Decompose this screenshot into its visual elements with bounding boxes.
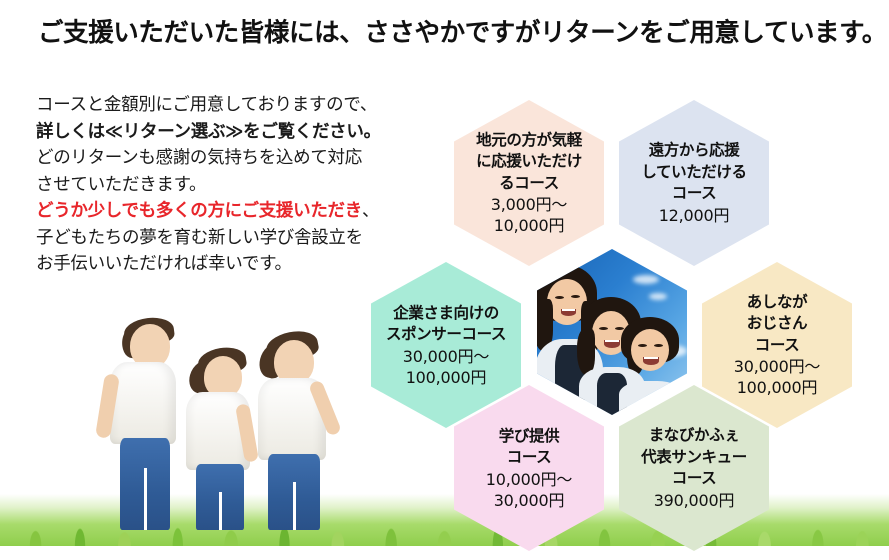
hex-amount-line: 10,000円～ bbox=[486, 469, 572, 490]
hex-title-line: 地元の方が気軽 bbox=[476, 130, 582, 152]
cloud-shape bbox=[633, 275, 659, 284]
reward-honeycomb: 地元の方が気軽 に応援いただけ るコース 3,000円～ 10,000円 遠方か… bbox=[0, 0, 889, 560]
hex-amount-line: 100,000円 bbox=[734, 377, 820, 398]
hex-amount-corporate-sponsor: 30,000円～ 100,000円 bbox=[403, 346, 489, 388]
child-mouth bbox=[561, 309, 576, 316]
hex-title-line: 代表サンキュー bbox=[641, 447, 747, 469]
hex-title-line: 企業さま向けの bbox=[386, 303, 506, 325]
hex-title-learning-provision: 学び提供 コース bbox=[499, 426, 559, 469]
hex-title-line: コース bbox=[641, 183, 746, 205]
hex-amount-line: 100,000円 bbox=[403, 367, 489, 388]
hex-amount-line: 30,000円 bbox=[486, 490, 572, 511]
hex-title-line: コース bbox=[747, 335, 807, 357]
hex-amount-line: 30,000円～ bbox=[734, 356, 820, 377]
cloud-shape bbox=[649, 293, 667, 300]
hex-title-ashinaga-ojisan: あしなが おじさん コース bbox=[747, 292, 807, 357]
hex-title-line: に応援いただけ bbox=[476, 151, 582, 173]
hex-title-line: るコース bbox=[476, 173, 582, 195]
hex-title-line: おじさん bbox=[747, 313, 807, 335]
hex-title-line: していただける bbox=[641, 162, 746, 184]
hex-title-line: コース bbox=[499, 447, 559, 469]
hex-title-line: 遠方から応援 bbox=[641, 140, 746, 162]
child-mouth bbox=[643, 357, 659, 365]
hex-title-local-supporter: 地元の方が気軽 に応援いただけ るコース bbox=[476, 130, 582, 195]
hex-title-line: スポンサーコース bbox=[386, 324, 506, 346]
hex-cell-local-supporter[interactable]: 地元の方が気軽 に応援いただけ るコース 3,000円～ 10,000円 bbox=[454, 100, 604, 266]
child-eye bbox=[654, 344, 663, 347]
hex-title-manabi-cafe-thankyou: まなびかふぇ 代表サンキュー コース bbox=[641, 425, 747, 490]
hex-amount-line: 30,000円～ bbox=[403, 346, 489, 367]
hex-amount-line: 390,000円 bbox=[654, 490, 735, 511]
hex-title-line: 学び提供 bbox=[499, 426, 559, 448]
child-eye bbox=[599, 327, 608, 330]
hex-title-line: あしなが bbox=[747, 292, 807, 314]
hex-amount-line: 10,000円 bbox=[491, 215, 567, 236]
child-eye bbox=[638, 344, 647, 347]
page-root: ご支援いただいた皆様には、ささやかですがリターンをご用意しています。 コースと金… bbox=[0, 0, 889, 560]
hex-title-line: コース bbox=[641, 468, 747, 490]
child-eye bbox=[555, 296, 564, 299]
hex-amount-ashinaga-ojisan: 30,000円～ 100,000円 bbox=[734, 356, 820, 398]
child-mouth bbox=[604, 340, 620, 348]
hex-title-corporate-sponsor: 企業さま向けの スポンサーコース bbox=[386, 303, 506, 346]
hex-amount-line: 12,000円 bbox=[659, 205, 730, 226]
hex-cell-remote-supporter[interactable]: 遠方から応援 していただける コース 12,000円 bbox=[619, 100, 769, 266]
hex-amount-line: 3,000円～ bbox=[491, 194, 567, 215]
hex-amount-manabi-cafe-thankyou: 390,000円 bbox=[654, 490, 735, 511]
hex-title-line: まなびかふぇ bbox=[641, 425, 747, 447]
hex-amount-remote-supporter: 12,000円 bbox=[659, 205, 730, 226]
hex-amount-learning-provision: 10,000円～ 30,000円 bbox=[486, 469, 572, 511]
hex-amount-local-supporter: 3,000円～ 10,000円 bbox=[491, 194, 567, 236]
hex-title-remote-supporter: 遠方から応援 していただける コース bbox=[641, 140, 746, 205]
children-photo-hexagon bbox=[537, 249, 687, 415]
child-hair-lower bbox=[577, 329, 595, 375]
